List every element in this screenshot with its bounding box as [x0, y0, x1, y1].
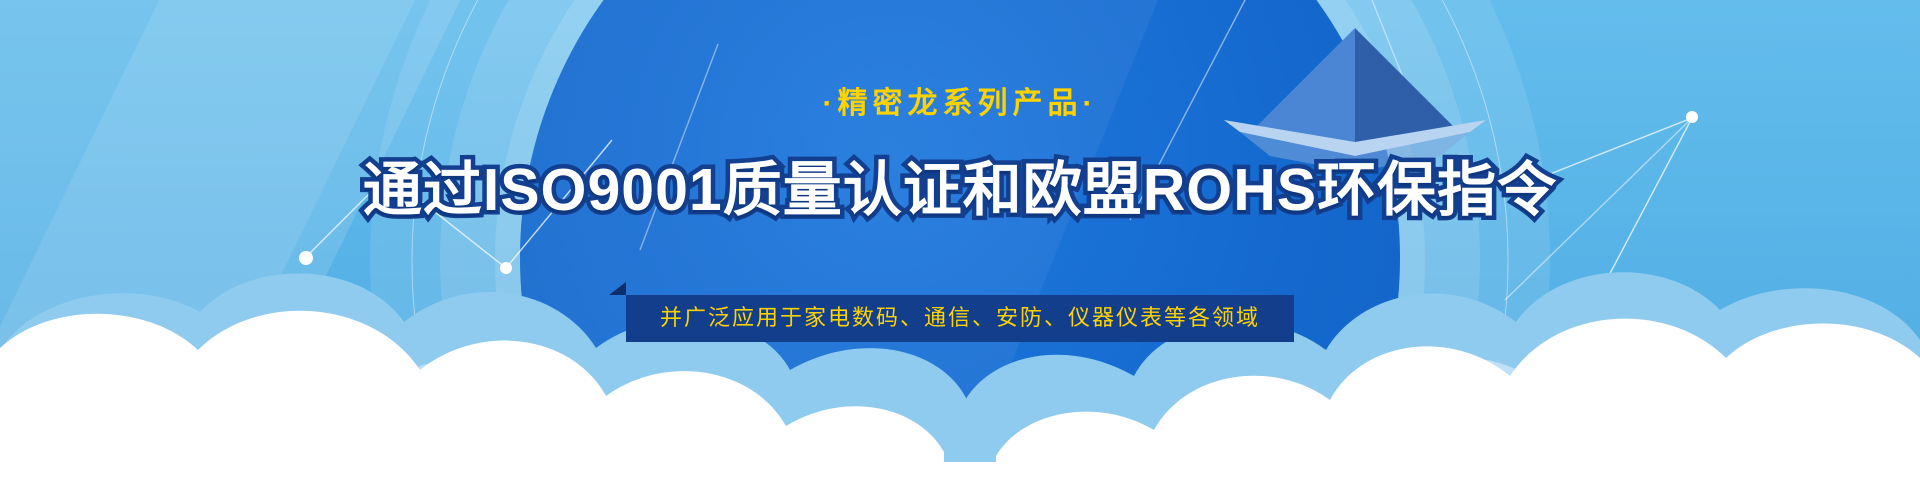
- banner-tagline: ·精密龙系列产品·: [0, 78, 1920, 122]
- banner-text-content: ·精密龙系列产品· 通过ISO9001质量认证和欧盟ROHS环保指令 并广泛应用…: [0, 0, 1920, 480]
- banner-headline: 通过ISO9001质量认证和欧盟ROHS环保指令: [0, 142, 1920, 227]
- banner-subbar-text: 并广泛应用于家电数码、通信、安防、仪器仪表等各领域: [660, 305, 1260, 330]
- promo-banner: ·精密龙系列产品· 通过ISO9001质量认证和欧盟ROHS环保指令 并广泛应用…: [0, 0, 1920, 480]
- banner-subbar: 并广泛应用于家电数码、通信、安防、仪器仪表等各领域: [626, 295, 1294, 342]
- subbar-fold-corner: [609, 282, 626, 295]
